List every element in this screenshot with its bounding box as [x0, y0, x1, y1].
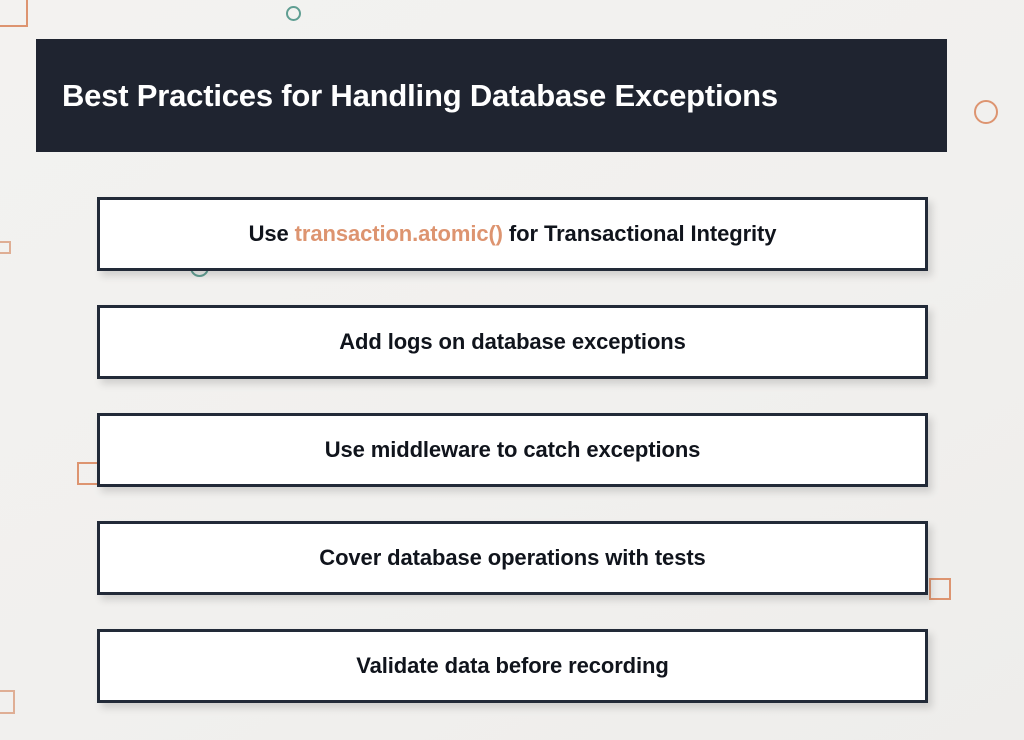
practice-card-label: Cover database operations with tests [319, 545, 705, 571]
practice-card[interactable]: Use transaction.atomic() for Transaction… [97, 197, 928, 271]
practice-card-label: Use transaction.atomic() for Transaction… [249, 221, 777, 247]
practice-card-prefix: Use [249, 221, 295, 246]
decoration-square-3 [0, 241, 11, 254]
practice-card[interactable]: Add logs on database exceptions [97, 305, 928, 379]
practice-card[interactable]: Validate data before recording [97, 629, 928, 703]
practice-card-label: Use middleware to catch exceptions [325, 437, 701, 463]
practice-card-suffix: for Transactional Integrity [503, 221, 776, 246]
practice-card-prefix: Validate data before recording [356, 653, 668, 678]
practice-card-code: transaction.atomic() [295, 221, 503, 246]
practice-card-label: Validate data before recording [356, 653, 668, 679]
decoration-circle-1 [286, 6, 301, 21]
decoration-square-6 [929, 578, 951, 600]
title-banner: Best Practices for Handling Database Exc… [36, 39, 947, 152]
practice-card-prefix: Add logs on database exceptions [339, 329, 686, 354]
practice-card[interactable]: Cover database operations with tests [97, 521, 928, 595]
decoration-square-0 [0, 0, 28, 27]
practice-card-label: Add logs on database exceptions [339, 329, 686, 355]
decoration-circle-2 [974, 100, 998, 124]
practice-card-prefix: Cover database operations with tests [319, 545, 705, 570]
practice-card[interactable]: Use middleware to catch exceptions [97, 413, 928, 487]
practice-card-prefix: Use middleware to catch exceptions [325, 437, 701, 462]
page-title: Best Practices for Handling Database Exc… [36, 78, 778, 114]
decoration-square-7 [0, 690, 15, 714]
slide-canvas: Best Practices for Handling Database Exc… [0, 0, 1024, 740]
